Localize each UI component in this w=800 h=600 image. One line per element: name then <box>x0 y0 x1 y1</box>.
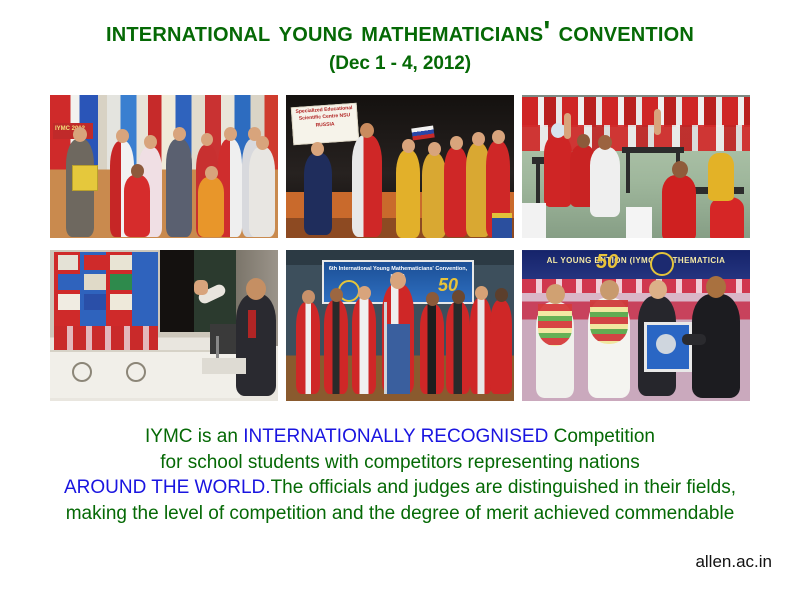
person-head <box>131 164 144 178</box>
flag-tile <box>110 294 132 310</box>
person-head <box>472 132 485 146</box>
photo-stage-speech: 6th International Young Mathematicians' … <box>286 250 514 401</box>
person <box>396 150 420 238</box>
body-line-3-part-2: The officials and judges are distinguish… <box>271 477 736 498</box>
raised-hand <box>654 109 661 135</box>
photo-group-flags-award: IYMC 2012 Group photo of delegates and o… <box>50 95 278 238</box>
russia-placard-text: Specialized Educational Scientific Centr… <box>295 105 352 128</box>
stage-prop-box <box>492 213 512 238</box>
person-head <box>475 286 488 300</box>
title-block: International Young Mathematicians' Conv… <box>0 0 800 75</box>
desk <box>622 147 684 153</box>
chair <box>522 203 546 238</box>
certificate-folder <box>72 165 98 191</box>
student <box>710 197 744 238</box>
flag-tile <box>58 294 80 310</box>
official <box>692 294 740 398</box>
flag-tile <box>84 274 106 290</box>
guest-head <box>600 280 619 300</box>
body-line-1: IYMC is an INTERNATIONALLY RECOGNISED Co… <box>0 424 800 450</box>
person-head <box>144 135 157 149</box>
speaker <box>236 294 276 396</box>
person-head <box>358 286 371 300</box>
emblem <box>650 252 674 276</box>
chair <box>626 207 652 238</box>
body-line-1-part-1: IYMC is an <box>145 426 243 447</box>
flower-garland <box>590 300 628 344</box>
body-line-1-part-3: Competition <box>548 426 655 447</box>
person <box>324 300 348 394</box>
person-head <box>402 139 415 153</box>
person-head <box>205 166 218 180</box>
stage-curtain <box>160 250 194 332</box>
body-line-3-highlight: AROUND THE WORLD. <box>64 477 271 498</box>
person-head <box>201 133 213 146</box>
person-kneeling <box>198 177 224 237</box>
memento-medallion <box>656 334 676 354</box>
golden-jubilee-logo: 50 <box>596 252 618 272</box>
person-head <box>302 290 315 304</box>
person <box>490 300 512 394</box>
flag-tile <box>110 274 132 290</box>
desk-leg <box>626 153 630 193</box>
student-head <box>598 135 612 150</box>
body-line-3: AROUND THE WORLD.The officials and judge… <box>0 475 800 501</box>
body-line-4: making the level of competition and the … <box>0 501 800 527</box>
student <box>662 175 696 238</box>
student <box>590 147 620 217</box>
photo-russia-team-parade: Specialized Educational Scientific Centr… <box>286 95 514 238</box>
student-head <box>672 161 688 178</box>
person-silhouette <box>210 324 236 354</box>
photo-felicitation: AL YOUNG ENTION (IYMC) MATHEMATICIA 50 F… <box>522 250 750 401</box>
guest-head <box>546 284 565 304</box>
person <box>352 298 376 394</box>
person-head <box>116 129 129 143</box>
russia-placard: Specialized Educational Scientific Centr… <box>291 103 359 146</box>
person <box>420 304 444 394</box>
microphone-stand <box>384 302 387 394</box>
podium-top <box>202 358 246 374</box>
flag-tile <box>58 255 78 270</box>
body-line-1-highlight: INTERNATIONALLY RECOGNISED <box>243 426 548 447</box>
student-head-cap <box>551 123 565 138</box>
awardee-head <box>649 280 667 299</box>
person <box>352 135 382 237</box>
person <box>444 147 468 237</box>
person <box>304 153 332 235</box>
ceremony-banner-text: AL YOUNG ENTION (IYMC) MATHEMATICIA <box>547 256 726 265</box>
person-head <box>330 288 343 302</box>
speaker-tie <box>248 310 256 338</box>
person <box>446 302 470 394</box>
person-head <box>426 292 439 306</box>
student <box>544 135 572 207</box>
photo-grid: IYMC 2012 Group photo of delegates and o… <box>50 95 750 401</box>
person <box>166 139 192 237</box>
official-arm <box>682 334 706 345</box>
person-head <box>73 127 87 142</box>
person-head <box>492 130 505 144</box>
person-head <box>173 127 186 141</box>
person-kneeling <box>124 175 150 237</box>
body-line-2: for school students with competitors rep… <box>0 450 800 476</box>
person-head <box>452 290 465 304</box>
photo-exam-hall: Students in red jackets seated at exam d… <box>522 95 750 238</box>
flag-tile <box>84 294 106 310</box>
person-head <box>495 288 508 302</box>
speaker-head <box>246 278 266 300</box>
speaker-jeans <box>386 324 410 394</box>
flag-tile <box>84 255 106 270</box>
footer-website: allen.ac.in <box>695 552 772 572</box>
person-head <box>360 123 374 138</box>
microphone-stand <box>216 336 219 358</box>
person-head <box>450 136 463 150</box>
body-text: IYMC is an INTERNATIONALLY RECOGNISED Co… <box>0 424 800 526</box>
student <box>708 153 734 201</box>
photo-podium-address: Official addressing the convention from … <box>50 250 278 401</box>
person <box>249 147 275 237</box>
flag-tile <box>110 255 132 270</box>
person <box>422 153 446 238</box>
person <box>470 298 492 394</box>
panel-seated-row <box>54 326 158 352</box>
flag-tile <box>58 274 80 290</box>
table-emblem <box>72 362 92 382</box>
official-head <box>706 276 726 298</box>
flower-garland <box>538 304 572 346</box>
ceremony-banner: AL YOUNG ENTION (IYMC) MATHEMATICIA <box>522 251 750 279</box>
person-head <box>428 142 441 156</box>
person-head <box>256 136 269 150</box>
person <box>296 302 320 394</box>
page-subtitle: (Dec 1 - 4, 2012) <box>0 53 800 75</box>
page-title: International Young Mathematicians' Conv… <box>0 17 800 47</box>
raised-hand <box>564 113 571 139</box>
person-head <box>224 127 237 141</box>
raised-hand <box>194 280 208 295</box>
table-emblem <box>126 362 146 382</box>
person-head <box>311 142 324 156</box>
speaker-head <box>390 272 406 289</box>
student-head <box>577 134 590 148</box>
